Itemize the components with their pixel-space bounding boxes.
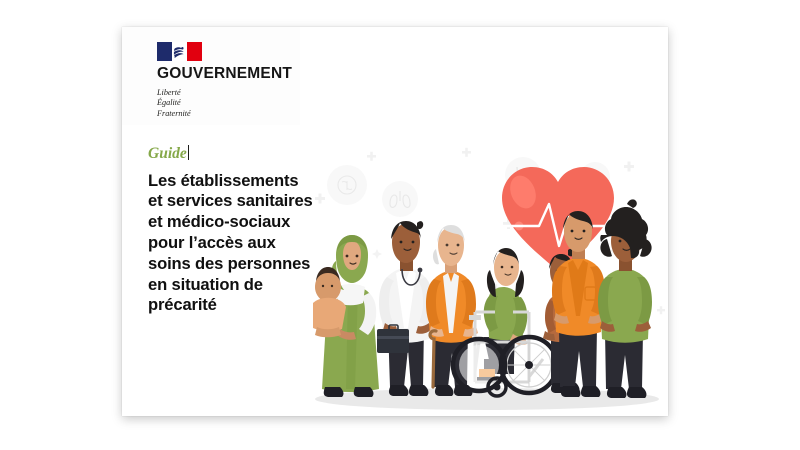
institution-name: GOUVERNEMENT [157, 66, 292, 82]
figure-doctor-with-briefcase [377, 221, 433, 396]
marianne-icon [172, 42, 187, 61]
motto-liberte: Liberté [157, 88, 292, 99]
cover-title-area: Guide Les établissements et services san… [148, 145, 363, 316]
kicker-text: Guide [148, 145, 187, 162]
screenshot-canvas: GOUVERNEMENT Liberté Égalité Fraternité … [0, 0, 800, 450]
logo-inner: GOUVERNEMENT Liberté Égalité Fraternité [157, 42, 292, 120]
briefcase-icon [377, 325, 409, 353]
flag-band-white [172, 42, 187, 61]
text-caret [188, 145, 189, 160]
document-page: GOUVERNEMENT Liberté Égalité Fraternité … [122, 27, 668, 416]
title-line-1: Les établissements [148, 171, 363, 192]
motto-fraternite: Fraternité [157, 109, 292, 120]
french-tricolour-flag-icon [157, 42, 202, 61]
title-line-4: pour l’accès aux [148, 233, 363, 254]
title-line-3: et médico-sociaux [148, 212, 363, 233]
republic-motto: Liberté Égalité Fraternité [157, 88, 292, 120]
title-line-2: et services sanitaires [148, 191, 363, 212]
figure-woman-in-green-shirt [597, 199, 652, 398]
kicker-guide: Guide [148, 145, 363, 162]
flag-band-red [187, 42, 202, 61]
flag-band-blue [157, 42, 172, 61]
page-title: Les établissements et services sanitaire… [148, 171, 363, 317]
government-logo-block: GOUVERNEMENT Liberté Égalité Fraternité [122, 27, 300, 125]
title-line-5: soins des personnes [148, 254, 363, 275]
title-line-6: en situation de [148, 275, 363, 296]
title-line-7: précarité [148, 295, 363, 316]
motto-egalite: Égalité [157, 98, 292, 109]
